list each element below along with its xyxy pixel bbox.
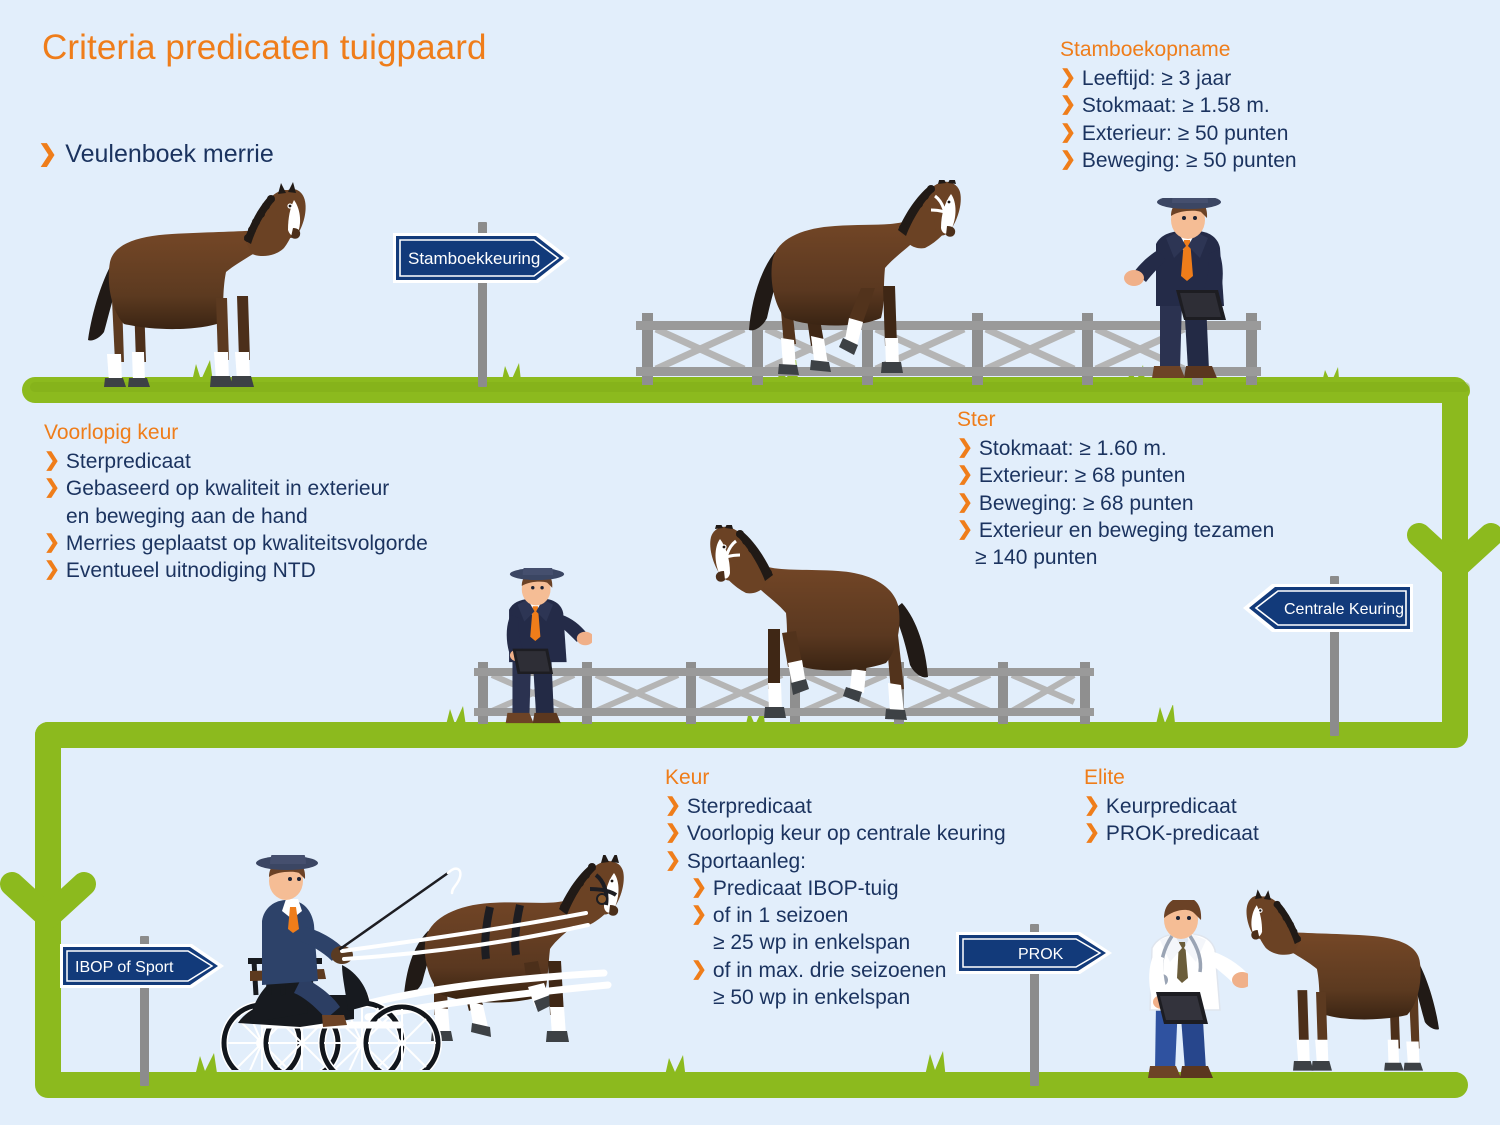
list-item: ❯Merries geplaatst op kwaliteitsvolgorde — [44, 530, 428, 557]
chevron-right-icon: ❯ — [957, 490, 973, 516]
chevron-right-icon: ❯ — [665, 793, 681, 819]
list-item-label: ≥ 140 punten — [975, 544, 1097, 571]
list-item-label: Sterpredicaat — [66, 448, 191, 475]
veterinarian — [1128, 900, 1248, 1085]
list-item-label: Exterieur: ≥ 50 punten — [1082, 120, 1288, 147]
block-ster: Ster ❯Stokmaat: ≥ 1.60 m. ❯Exterieur: ≥ … — [957, 408, 1274, 571]
list-item: ❯Exterieur en beweging tezamen — [957, 517, 1274, 544]
list-item: ❯Gebaseerd op kwaliteit in exterieur — [44, 475, 428, 502]
list-item-label: ≥ 25 wp in enkelspan — [713, 929, 910, 956]
sign-board-left[interactable]: Centrale Keuring — [1240, 582, 1416, 634]
list-item: ❯Exterieur: ≥ 68 punten — [957, 462, 1274, 489]
sign-prok[interactable]: PROK — [954, 924, 1124, 1086]
sign-stamboekkeuring[interactable]: Stamboekkeuring — [392, 222, 582, 387]
list-item: ❯Sterpredicaat — [44, 448, 428, 475]
list-item-label: Sportaanleg: — [687, 848, 806, 875]
chevron-right-icon: ❯ — [1060, 65, 1076, 91]
list-item: ❯PROK-predicaat — [1084, 820, 1259, 847]
standing-horse-mare — [62, 182, 322, 387]
block-voorlopig-keur: Voorlopig keur ❯Sterpredicaat ❯Gebaseerd… — [44, 421, 428, 584]
list-item-label: Gebaseerd op kwaliteit in exterieur — [66, 475, 389, 502]
list-item-label: Leeftijd: ≥ 3 jaar — [1082, 65, 1231, 92]
list-item: ❯Sportaanleg: — [665, 848, 1006, 875]
label-veulenboek-merrie: ❯ Veulenboek merrie — [38, 140, 274, 169]
judge-inspector-row2 — [482, 568, 592, 736]
sign-centrale-keuring[interactable]: Centrale Keuring — [1240, 576, 1420, 736]
trotting-horse-row1 — [735, 180, 985, 385]
list-item-label: Beweging: ≥ 50 punten — [1082, 147, 1297, 174]
list-item: ❯Stokmaat: ≥ 1.58 m. — [1060, 92, 1297, 119]
block-heading: Stamboekopname — [1060, 38, 1297, 62]
list-item-label: Sterpredicaat — [687, 793, 812, 820]
chevron-right-icon: ❯ — [1084, 793, 1100, 819]
judge-inspector-row1 — [1124, 198, 1254, 390]
chevron-right-icon: ❯ — [957, 462, 973, 488]
list-item-label: Keurpredicaat — [1106, 793, 1237, 820]
infographic-canvas: Criteria predicaten tuigpaard ❯ Veulenbo… — [0, 0, 1500, 1125]
list-item: ❯Voorlopig keur op centrale keuring — [665, 820, 1006, 847]
chevron-right-icon: ❯ — [957, 435, 973, 461]
block-heading: Voorlopig keur — [44, 421, 428, 445]
list-item: ❯Leeftijd: ≥ 3 jaar — [1060, 65, 1297, 92]
chevron-right-icon: ❯ — [1060, 147, 1076, 173]
list-item: ❯Exterieur: ≥ 50 punten — [1060, 120, 1297, 147]
list-item-label: Exterieur en beweging tezamen — [979, 517, 1274, 544]
block-elite: Elite ❯Keurpredicaat ❯PROK-predicaat — [1084, 766, 1259, 848]
chevron-right-icon: ❯ — [957, 517, 973, 543]
list-item-continuation: ≥ 140 punten — [957, 544, 1274, 571]
chevron-right-icon: ❯ — [665, 820, 681, 846]
list-item-label: Stokmaat: ≥ 1.60 m. — [979, 435, 1167, 462]
sign-label: PROK — [1018, 946, 1064, 963]
list-item-label: of in max. drie seizoenen — [713, 957, 946, 984]
trotting-horse-row2 — [690, 525, 940, 730]
sign-label: Centrale Keuring — [1284, 601, 1404, 618]
chevron-right-icon: ❯ — [44, 475, 60, 501]
chevron-right-icon: ❯ — [1060, 92, 1076, 118]
list-item-continuation: en beweging aan de hand — [44, 503, 428, 530]
list-item: ❯Sterpredicaat — [665, 793, 1006, 820]
list-item-label: Eventueel uitnodiging NTD — [66, 557, 316, 584]
list-item: ❯Predicaat IBOP-tuig — [665, 875, 1006, 902]
sign-board-right[interactable]: PROK — [954, 930, 1118, 976]
list-item-label: PROK-predicaat — [1106, 820, 1259, 847]
list-item: ❯Eventueel uitnodiging NTD — [44, 557, 428, 584]
sign-board-right[interactable]: Stamboekkeuring — [390, 230, 576, 286]
list-item-label: Exterieur: ≥ 68 punten — [979, 462, 1185, 489]
list-item-label: Stokmaat: ≥ 1.58 m. — [1082, 92, 1270, 119]
list-item-label: Predicaat IBOP-tuig — [713, 875, 899, 902]
list-item: ❯Beweging: ≥ 68 punten — [957, 490, 1274, 517]
chevron-right-icon: ❯ — [38, 140, 57, 167]
list-item-label: Merries geplaatst op kwaliteitsvolgorde — [66, 530, 428, 557]
chevron-right-icon: ❯ — [44, 530, 60, 556]
list-item: ❯Beweging: ≥ 50 punten — [1060, 147, 1297, 174]
chevron-right-icon: ❯ — [44, 448, 60, 474]
chevron-right-icon: ❯ — [691, 957, 707, 983]
page-title: Criteria predicaten tuigpaard — [42, 28, 487, 68]
harness-driving-scene — [190, 855, 680, 1070]
standing-horse-row3 — [1232, 880, 1462, 1080]
chevron-right-icon: ❯ — [1084, 820, 1100, 846]
list-item: ❯Keurpredicaat — [1084, 793, 1259, 820]
chevron-right-icon: ❯ — [44, 557, 60, 583]
block-stamboekopname: Stamboekopname ❯Leeftijd: ≥ 3 jaar ❯Stok… — [1060, 38, 1297, 174]
sign-label: IBOP of Sport — [75, 959, 174, 976]
sign-label: Stamboekkeuring — [408, 249, 540, 268]
list-item: ❯Stokmaat: ≥ 1.60 m. — [957, 435, 1274, 462]
list-item-label: Voorlopig keur op centrale keuring — [687, 820, 1006, 847]
block-heading: Keur — [665, 766, 1006, 790]
chevron-right-icon: ❯ — [1060, 120, 1076, 146]
list-item-label: of in 1 seizoen — [713, 902, 848, 929]
chevron-right-icon: ❯ — [691, 902, 707, 928]
chevron-right-icon: ❯ — [691, 875, 707, 901]
list-item-label: ≥ 50 wp in enkelspan — [713, 984, 910, 1011]
label-text: Veulenboek merrie — [65, 140, 273, 169]
list-item-label: Beweging: ≥ 68 punten — [979, 490, 1194, 517]
block-heading: Elite — [1084, 766, 1259, 790]
list-item-label: en beweging aan de hand — [66, 503, 308, 530]
block-heading: Ster — [957, 408, 1274, 432]
